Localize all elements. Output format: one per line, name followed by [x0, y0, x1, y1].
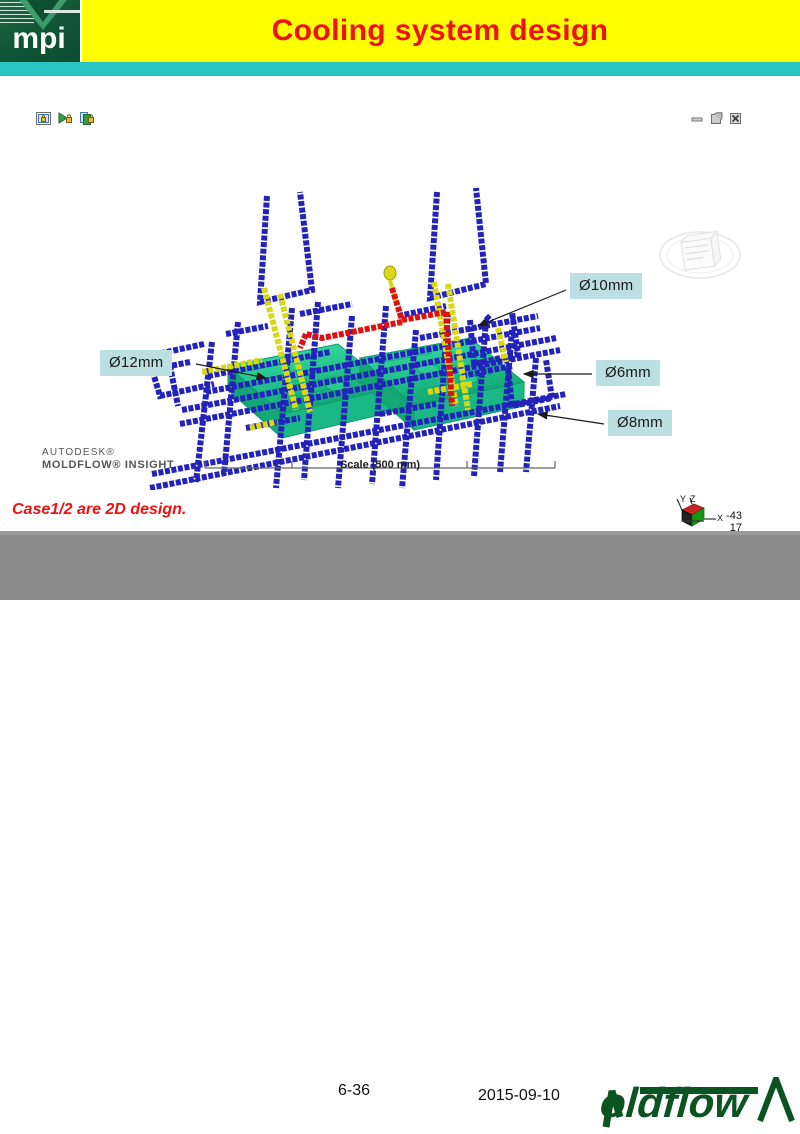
svg-text:oldflow: oldflow	[600, 1079, 751, 1126]
cooling-system-model	[0, 76, 800, 490]
mpi-logo-bar	[44, 10, 80, 13]
callout-diameter-10mm: Ø10mm	[570, 273, 642, 299]
callout-diameter-12mm: Ø12mm	[100, 350, 172, 376]
page-title: Cooling system design	[90, 0, 790, 62]
callout-diameter-8mm: Ø8mm	[608, 410, 672, 436]
axis-value-x: -43	[700, 510, 742, 522]
mpi-logo: mpi	[0, 0, 82, 62]
autodesk-wordmark: AUTODESK®	[42, 446, 174, 459]
scale-bar-label: Scale (500 mm)	[205, 459, 555, 471]
svg-text:Y: Y	[680, 494, 686, 504]
mpi-logo-text: mpi	[0, 24, 78, 54]
svg-text:Z: Z	[690, 494, 696, 504]
slide-note: Case1/2 are 2D design.	[12, 501, 186, 519]
slide-footer: 6-36 2015-09-10 oldflow	[0, 535, 800, 600]
moldflow-logo: oldflow	[600, 1077, 796, 1129]
footer-page-number: 6-36	[338, 1082, 370, 1100]
slide-header: mpi Cooling system design	[0, 0, 800, 62]
leader-d8	[538, 414, 604, 424]
footer-date: 2015-09-10	[478, 1087, 560, 1105]
model-viewport[interactable]: Ø10mm Ø12mm Ø6mm Ø8mm AUTODESK® MOLDFLOW…	[0, 76, 800, 490]
header-underline	[0, 62, 800, 76]
moldflow-insight-wordmark: MOLDFLOW® INSIGHT	[42, 459, 174, 472]
callout-diameter-6mm: Ø6mm	[596, 360, 660, 386]
autodesk-moldflow-brand: AUTODESK® MOLDFLOW® INSIGHT	[42, 446, 174, 472]
